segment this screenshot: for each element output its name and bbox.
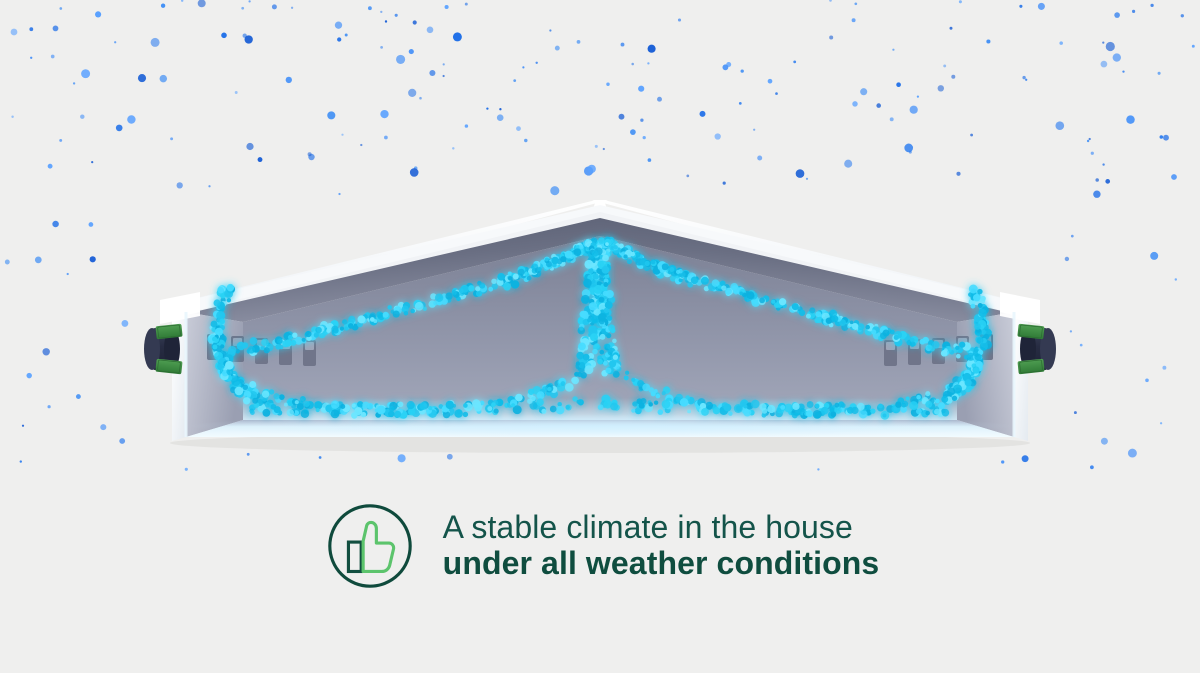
caption-line-1: A stable climate in the house	[443, 510, 880, 546]
caption-text: A stable climate in the house under all …	[443, 510, 880, 582]
illustration-stage: A stable climate in the house under all …	[0, 0, 1200, 673]
thumbs-up-circle	[329, 505, 409, 585]
caption-block: A stable climate in the house under all …	[0, 488, 1200, 603]
thumbs-up-icon	[321, 497, 419, 595]
thumb-shape	[363, 522, 393, 571]
caption-line-2: under all weather conditions	[443, 546, 880, 582]
thumb-cuff-rect	[348, 542, 361, 571]
